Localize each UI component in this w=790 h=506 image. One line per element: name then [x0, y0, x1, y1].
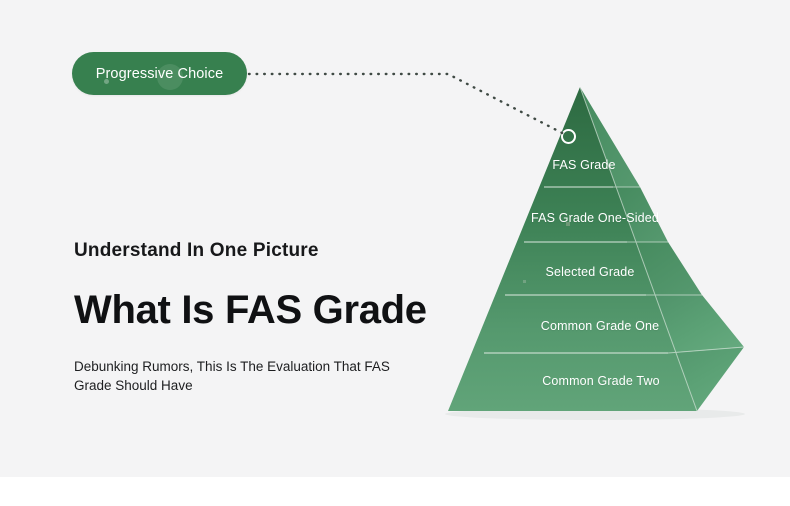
copy-block: Understand In One Picture What Is FAS Gr…	[74, 240, 434, 396]
progressive-choice-tag[interactable]: Progressive Choice	[72, 52, 247, 95]
progressive-choice-tag-label: Progressive Choice	[96, 66, 224, 82]
subtitle-text: Debunking Rumors, This Is The Evaluation…	[74, 357, 409, 396]
pyramid-tier-label-4: Common Grade One	[541, 319, 659, 333]
slide-canvas: FAS Grade FAS Grade One-Sided Selected G…	[0, 0, 790, 506]
pyramid-tier-label-2: FAS Grade One-Sided	[531, 211, 659, 225]
pyramid-tier-label-3: Selected Grade	[546, 265, 635, 279]
fas-grade-node-marker[interactable]	[561, 129, 576, 144]
pyramid-tier-label-5: Common Grade Two	[542, 374, 660, 388]
page-title: What Is FAS Grade	[74, 289, 434, 331]
eyebrow-text: Understand In One Picture	[74, 240, 434, 263]
pyramid-tier-label-1: FAS Grade	[552, 158, 615, 172]
